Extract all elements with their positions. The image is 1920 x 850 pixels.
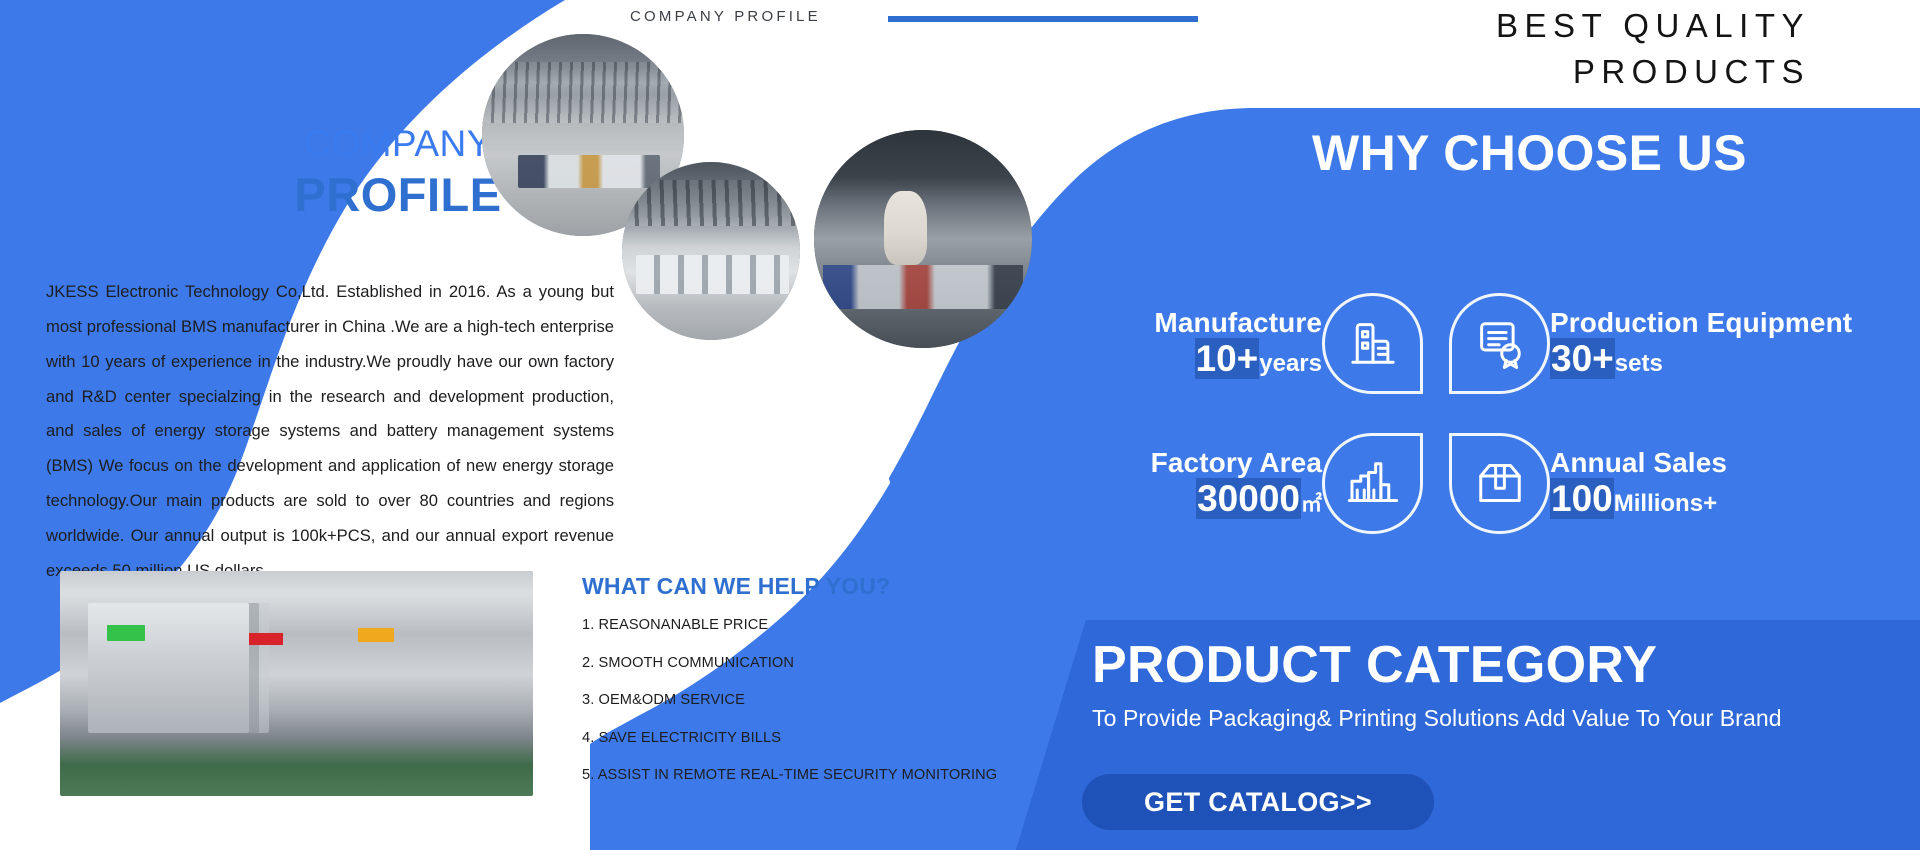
company-profile-eyebrow: COMPANY PROFILE <box>630 8 821 25</box>
headline-line1: BEST QUALITY <box>1210 5 1810 46</box>
factory-building-icon <box>1322 293 1423 394</box>
list-item: 2. SMOOTH COMMUNICATION <box>582 655 1052 671</box>
stat-unit: years <box>1259 350 1322 377</box>
product-category-subtitle: To Provide Packaging& Printing Solutions… <box>1092 705 1782 732</box>
stat-manufacture-text: Manufacture 10+years <box>1082 307 1322 378</box>
stat-production-equipment-text: Production Equipment 30+sets <box>1550 307 1790 378</box>
stat-annual-sales-text: Annual Sales 100Millions+ <box>1550 447 1790 518</box>
smt-production-line-photo <box>60 571 533 796</box>
list-item: 3. OEM&ODM SERVICE <box>582 692 1052 708</box>
stat-label: Production Equipment <box>1550 307 1790 338</box>
stat-label: Manufacture <box>1082 307 1322 338</box>
certificate-document-icon <box>1449 293 1550 394</box>
poster-canvas: COMPANY PROFILE COMPANY PROFILE JKESS El… <box>0 0 1920 850</box>
best-quality-headline: BEST QUALITY PRODUCTS <box>1210 5 1810 94</box>
stats-row-2: Factory Area 30000㎡ <box>1082 428 1894 538</box>
stat-value: 100 <box>1550 478 1614 519</box>
list-item: 1. REASONANABLE PRICE <box>582 617 1052 633</box>
stat-unit: ㎡ <box>1301 493 1322 516</box>
get-catalog-button[interactable]: GET CATALOG>> <box>1082 774 1434 830</box>
stat-value: 30+ <box>1550 338 1615 379</box>
company-description: JKESS Electronic Technology Co,Ltd. Esta… <box>46 275 614 589</box>
eyebrow-rule <box>888 16 1198 22</box>
help-list: 1. REASONANABLE PRICE 2. SMOOTH COMMUNIC… <box>582 617 1052 805</box>
stat-factory-area-text: Factory Area 30000㎡ <box>1082 447 1322 518</box>
stats-row-1: Manufacture 10+years <box>1082 288 1894 398</box>
get-catalog-label: GET CATALOG>> <box>1144 787 1372 818</box>
stat-label: Factory Area <box>1082 447 1322 478</box>
list-item: 5. ASSIST IN REMOTE REAL-TIME SECURITY M… <box>582 767 1052 783</box>
factory-chimney-icon <box>1322 433 1423 534</box>
list-item: 4. SAVE ELECTRICITY BILLS <box>582 730 1052 746</box>
worker-assembly-photo <box>814 130 1032 348</box>
stat-unit: Millions+ <box>1614 490 1717 517</box>
stat-value: 30000 <box>1196 478 1301 519</box>
warehouse-storage-photo <box>622 162 800 340</box>
headline-line2: PRODUCTS <box>1210 51 1810 94</box>
stat-value: 10+ <box>1195 338 1260 379</box>
help-section-title: WHAT CAN WE HELP YOU? <box>582 573 890 600</box>
stats-grid: Manufacture 10+years <box>1082 288 1894 538</box>
stat-unit: sets <box>1615 350 1663 377</box>
stat-label: Annual Sales <box>1550 447 1790 478</box>
product-category-title: PRODUCT CATEGORY <box>1092 635 1657 695</box>
why-choose-us-title: WHY CHOOSE US <box>1312 124 1747 182</box>
package-box-icon <box>1449 433 1550 534</box>
